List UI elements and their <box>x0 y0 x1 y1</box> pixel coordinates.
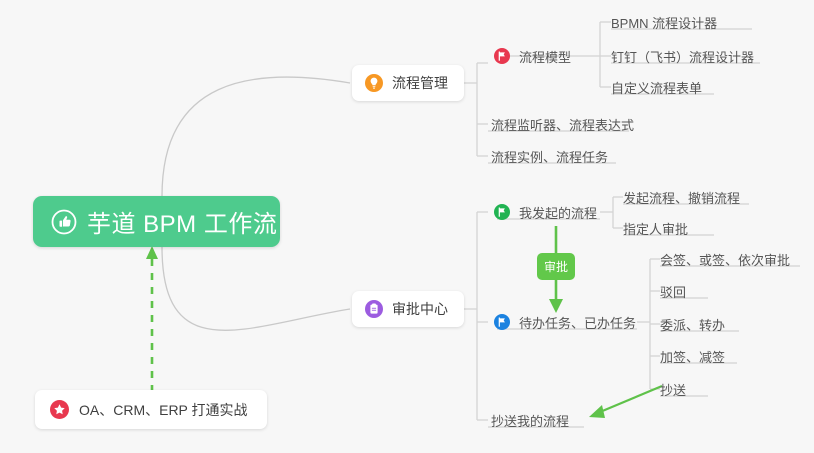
node-label-dingtalk-feishu-designer: 钉钉（飞书）流程设计器 <box>611 47 754 66</box>
node-label-reject: 驳回 <box>660 282 686 301</box>
node-my-initiated-process[interactable]: 我发起的流程 <box>494 201 597 223</box>
node-custom-process-form[interactable]: 自定义流程表单 <box>611 76 702 98</box>
node-label-add-remove-sign: 加签、减签 <box>660 347 725 366</box>
node-label-cc: 抄送 <box>660 380 686 399</box>
node-label-delegate-transfer: 委派、转办 <box>660 315 725 334</box>
thumbs-up-icon <box>51 209 77 235</box>
node-bpmn-designer[interactable]: BPMN 流程设计器 <box>611 11 717 33</box>
node-reject[interactable]: 驳回 <box>660 280 686 302</box>
node-cc-to-me-process[interactable]: 抄送我的流程 <box>491 409 569 431</box>
document-icon <box>365 300 383 318</box>
note-card-integration[interactable]: OA、CRM、ERP 打通实战 <box>35 390 267 429</box>
branch-label-process-management: 流程管理 <box>392 73 448 93</box>
node-process-model[interactable]: 流程模型 <box>494 45 571 67</box>
node-cc[interactable]: 抄送 <box>660 378 686 400</box>
lightbulb-icon <box>365 74 383 92</box>
node-process-listener-expression[interactable]: 流程监听器、流程表达式 <box>491 113 634 135</box>
node-label-process-listener-expression: 流程监听器、流程表达式 <box>491 115 634 134</box>
node-label-custom-process-form: 自定义流程表单 <box>611 78 702 97</box>
node-label-process-model: 流程模型 <box>519 47 571 66</box>
arrowhead-note-to-root <box>146 246 158 259</box>
node-label-todo-done-tasks: 待办任务、已办任务 <box>519 313 636 332</box>
node-add-remove-sign[interactable]: 加签、减签 <box>660 345 725 367</box>
branch-node-process-management[interactable]: 流程管理 <box>352 65 464 101</box>
flag-icon <box>494 204 510 220</box>
node-delegate-transfer[interactable]: 委派、转办 <box>660 313 725 335</box>
edge-root-to-process-management <box>162 77 350 196</box>
node-label-assignee-approval: 指定人审批 <box>623 219 688 238</box>
flag-icon <box>494 48 510 64</box>
line-cc-to-ccme <box>600 386 662 412</box>
node-dingtalk-feishu-designer[interactable]: 钉钉（飞书）流程设计器 <box>611 45 754 67</box>
node-label-cc-to-me-process: 抄送我的流程 <box>491 411 569 430</box>
arrowhead-cc-to-ccme <box>589 405 605 418</box>
flag-icon <box>494 314 510 330</box>
mindmap-canvas: 芋道 BPM 工作流 流程管理 流程模型 BPMN 流程设计器 钉钉（飞书 <box>0 0 814 453</box>
node-label-process-instance-task: 流程实例、流程任务 <box>491 147 608 166</box>
node-label-countersign-orsign-sequential: 会签、或签、依次审批 <box>660 250 790 269</box>
root-node[interactable]: 芋道 BPM 工作流 <box>33 196 280 247</box>
node-start-cancel-process[interactable]: 发起流程、撤销流程 <box>623 186 740 208</box>
edge-root-to-approval-center <box>162 247 350 330</box>
node-label-bpmn-designer: BPMN 流程设计器 <box>611 13 717 32</box>
approval-tag-label: 审批 <box>544 258 568 275</box>
node-todo-done-tasks[interactable]: 待办任务、已办任务 <box>494 311 636 333</box>
branch-label-approval-center: 审批中心 <box>392 299 448 319</box>
branch-node-approval-center[interactable]: 审批中心 <box>352 291 464 327</box>
node-countersign-orsign-sequential[interactable]: 会签、或签、依次审批 <box>660 248 790 270</box>
node-label-my-initiated-process: 我发起的流程 <box>519 203 597 222</box>
root-label: 芋道 BPM 工作流 <box>87 204 277 239</box>
node-process-instance-task[interactable]: 流程实例、流程任务 <box>491 145 608 167</box>
star-icon <box>50 400 69 419</box>
node-label-start-cancel-process: 发起流程、撤销流程 <box>623 188 740 207</box>
node-assignee-approval[interactable]: 指定人审批 <box>623 217 688 239</box>
note-card-label: OA、CRM、ERP 打通实战 <box>79 400 248 420</box>
approval-tag[interactable]: 审批 <box>537 253 575 280</box>
